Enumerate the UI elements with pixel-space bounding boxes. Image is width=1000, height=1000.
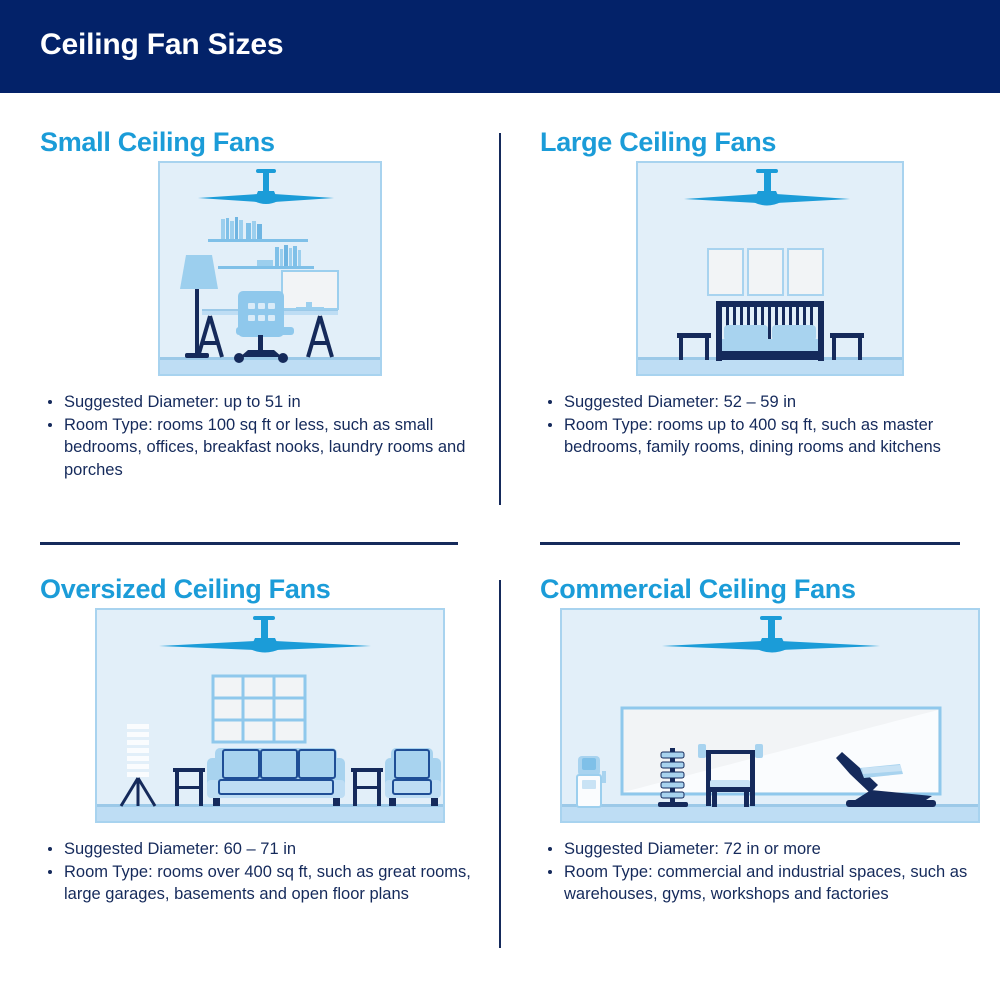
bullet-list-commercial: Suggested Diameter: 72 in or more Room T…	[540, 838, 1000, 906]
panel-heading-oversized: Oversized Ceiling Fans	[40, 572, 500, 608]
list-item: Room Type: rooms 100 sq ft or less, such…	[40, 414, 500, 482]
window-icon	[213, 676, 305, 742]
illustration-gym	[540, 608, 1000, 838]
panel-heading-large: Large Ceiling Fans	[540, 125, 1000, 161]
panel-oversized-ceiling-fans: Oversized Ceiling Fans	[40, 572, 500, 906]
panel-small-ceiling-fans: Small Ceiling Fans	[40, 125, 500, 481]
list-item: Suggested Diameter: 52 – 59 in	[540, 391, 1000, 414]
panel-large-ceiling-fans: Large Ceiling Fans	[540, 125, 1000, 459]
header-banner: Ceiling Fan Sizes	[0, 0, 1000, 93]
wall-art-frames	[708, 249, 823, 295]
sofa-icon	[207, 748, 345, 806]
panel-commercial-ceiling-fans: Commercial Ceiling Fans	[540, 572, 1000, 906]
infographic-page: Ceiling Fan Sizes Small Ceiling Fans	[0, 0, 1000, 1000]
panel-heading-commercial: Commercial Ceiling Fans	[540, 572, 1000, 608]
horizontal-divider-right	[540, 542, 960, 545]
dumbbell-rack-icon	[658, 748, 688, 807]
illustration-living-room	[40, 608, 500, 838]
list-item: Room Type: commercial and industrial spa…	[540, 861, 1000, 906]
gym-scene	[560, 608, 980, 823]
home-office-scene	[158, 161, 382, 376]
list-item: Suggested Diameter: 60 – 71 in	[40, 838, 500, 861]
wall-mirror	[622, 708, 940, 794]
bullet-list-oversized: Suggested Diameter: 60 – 71 in Room Type…	[40, 838, 500, 906]
panel-heading-small: Small Ceiling Fans	[40, 125, 500, 161]
list-item: Suggested Diameter: up to 51 in	[40, 391, 500, 414]
horizontal-divider-left	[40, 542, 458, 545]
armchair-icon	[385, 748, 441, 806]
illustration-bedroom	[540, 161, 1000, 391]
illustration-home-office	[40, 161, 500, 391]
list-item: Room Type: rooms over 400 sq ft, such as…	[40, 861, 500, 906]
bedroom-scene	[636, 161, 904, 376]
monitor-icon	[282, 271, 338, 310]
bullet-list-small: Suggested Diameter: up to 51 in Room Typ…	[40, 391, 500, 481]
list-item: Room Type: rooms up to 400 sq ft, such a…	[540, 414, 1000, 459]
page-title: Ceiling Fan Sizes	[40, 28, 283, 62]
list-item: Suggested Diameter: 72 in or more	[540, 838, 1000, 861]
bullet-list-large: Suggested Diameter: 52 – 59 in Room Type…	[540, 391, 1000, 459]
living-room-scene	[95, 608, 445, 823]
